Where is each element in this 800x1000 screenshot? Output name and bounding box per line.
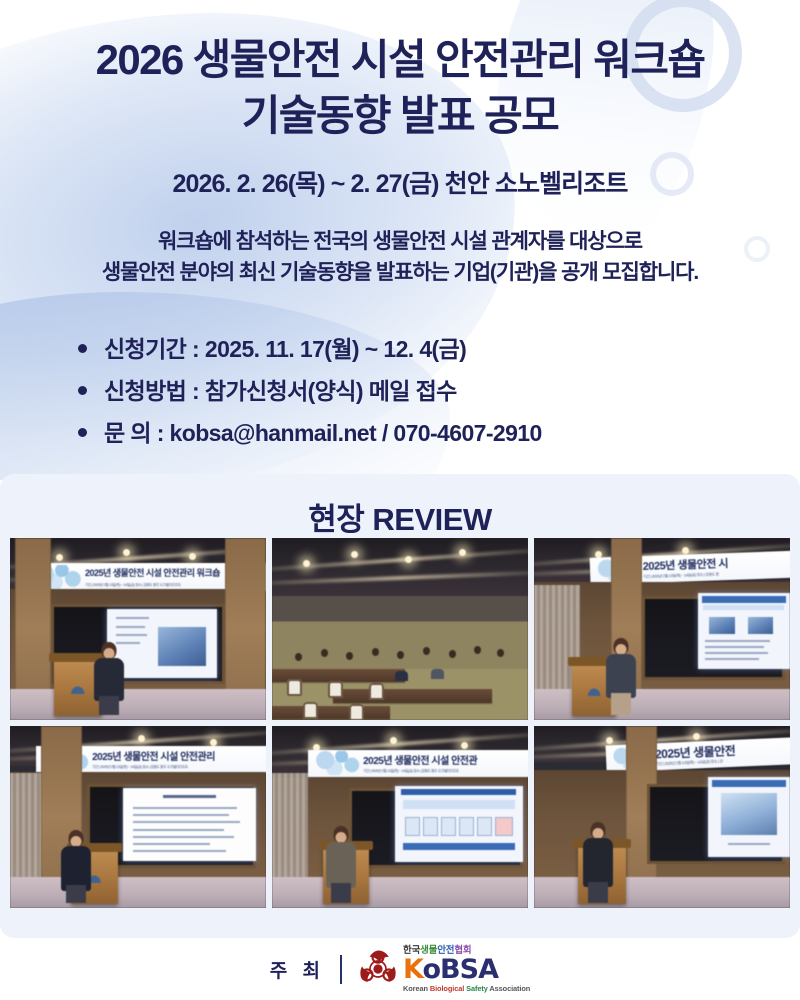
biohazard-icon [357, 948, 399, 990]
presentation-slide [708, 777, 790, 857]
slide-line [133, 807, 237, 809]
review-photo-grid: 2025년 생물안전 시설 안전관리 워크숍 기간 | 2025년 2월 13일… [10, 538, 790, 908]
presenter-body [326, 842, 356, 888]
bullet-text: 신청기간 : 2025. 11. 17(월) ~ 12. 4(금) [104, 330, 466, 364]
banner-title: 2025년 생물안전 시설 안전관 [363, 752, 477, 767]
logo-letter-k: K [403, 954, 422, 985]
audience-chair [349, 704, 364, 720]
downlight-icon [123, 549, 130, 556]
attendee-head [321, 649, 328, 657]
audience-chair [369, 683, 384, 700]
slide-table-cell [459, 817, 474, 837]
stage-floor [10, 877, 266, 908]
downlight-icon [303, 560, 310, 567]
logo-letter-s: S [460, 954, 478, 985]
bullet-text: 문 의 : kobsa@hanmail.net / 070-4607-2910 [104, 414, 542, 448]
review-photo-6[interactable]: 2025년 생물안전 기간 | 2025년 2월 13일(목) ~ 14일(금)… [534, 726, 790, 908]
footer-host-bar: 주 최 [0, 938, 800, 1000]
downlight-icon [390, 737, 397, 744]
review-photo-2[interactable] [272, 538, 528, 720]
stage-floor [10, 689, 266, 720]
presentation-slide [123, 788, 256, 861]
list-item: 신청방법 : 참가신청서(양식) 메일 접수 [0, 372, 800, 406]
presenter-figure [61, 830, 91, 903]
curtain [10, 773, 41, 882]
logo-en-part-2: Biological [430, 984, 466, 993]
slide-line [133, 814, 229, 816]
conference-scene: 2025년 생물안전 시설 안전관리 기간 | 2025년 2월 13일(목) … [10, 726, 266, 908]
slide-line [133, 850, 226, 852]
bullet-dot-icon [78, 428, 87, 437]
attendee-torso [395, 671, 408, 681]
review-photo-5[interactable]: 2025년 생물안전 시설 안전관 기간 | 2025년 2월 13일(목) ~… [272, 726, 528, 908]
attendee-torso [431, 669, 444, 679]
audience-rows [272, 618, 528, 720]
banner-subtitle: 기간 | 2025년 2월 13일(목) ~ 14일(금) 장소 | 강원도 원 [643, 573, 719, 581]
slide-line [116, 617, 149, 619]
downlight-icon [189, 553, 196, 560]
attendee-head [397, 651, 404, 659]
presenter-figure [326, 826, 356, 902]
review-photo-4[interactable]: 2025년 생물안전 시설 안전관리 기간 | 2025년 2월 13일(목) … [10, 726, 266, 908]
lead-line-2: 생물안전 분야의 최신 기술동향을 발표하는 기업(기관)을 공개 모집합니다. [0, 257, 800, 289]
presenter-legs [611, 693, 631, 714]
bullet-text: 신청방법 : 참가신청서(양식) 메일 접수 [104, 372, 457, 406]
audience-table [333, 689, 492, 702]
downlight-icon [459, 549, 466, 556]
logo-english-name: Korean Biological Safety Association [403, 985, 530, 992]
presenter-legs [331, 883, 351, 903]
presenter-legs [588, 882, 608, 903]
kobsa-logo[interactable]: 한국생물안전협회 KoBSA Korean Biological Safety … [357, 946, 530, 993]
downlight-icon [693, 733, 700, 740]
attendee-head [295, 653, 302, 661]
conference-scene: 2025년 생물안전 시설 안전관리 워크숍 기간 | 2025년 2월 13일… [10, 538, 266, 720]
headline-block: 2026 생물안전 시설 안전관리 워크숍 기술동향 발표 공모 2026. 2… [0, 0, 800, 289]
slide-line [705, 640, 770, 642]
presenter-figure [94, 642, 124, 715]
logo-letter-b: B [440, 954, 460, 985]
host-label: 주 최 [270, 956, 325, 983]
list-item: 신청기간 : 2025. 11. 17(월) ~ 12. 4(금) [0, 330, 800, 364]
review-photo-3[interactable]: 2025년 생물안전 시 기간 | 2025년 2월 13일(목) ~ 14일(… [534, 538, 790, 720]
slide-line [133, 836, 234, 838]
stage-banner: 2025년 생물안전 시설 안전관 기간 | 2025년 2월 13일(목) ~… [308, 750, 528, 777]
logo-text-block: 한국생물안전협회 KoBSA Korean Biological Safety … [403, 946, 530, 993]
banner-subtitle: 기간 | 2025년 2월 13일(목) ~ 14일(금) 장소 | 강원도 원… [92, 765, 188, 770]
slide-header-band [702, 596, 787, 603]
downlight-icon [210, 739, 217, 746]
presentation-slide [395, 786, 523, 862]
slide-line [705, 658, 758, 660]
attendee-head [372, 648, 379, 656]
slide-line [728, 843, 771, 845]
slide-band [403, 800, 516, 809]
podium-logo-icon [587, 687, 602, 696]
poster-title-line-1: 2026 생물안전 시설 안전관리 워크숍 [0, 33, 800, 87]
attendee-head [346, 652, 353, 660]
banner-subtitle: 기간 | 2025년 2월 13일(목) ~ 14일(금) 장소 | 강원도 원… [85, 583, 181, 588]
slide-table-cell [441, 817, 456, 837]
slide-line [133, 821, 239, 823]
podium-logo-icon [70, 685, 87, 694]
logo-letter-a: A [478, 954, 498, 985]
slide-table-cell [477, 817, 492, 837]
slide-header-band [712, 780, 786, 786]
slide-table-cell [423, 817, 438, 837]
review-photo-1[interactable]: 2025년 생물안전 시설 안전관리 워크숍 기간 | 2025년 2월 13일… [10, 538, 266, 720]
banner-title: 2025년 생물안전 시설 안전관리 [92, 748, 215, 763]
logo-wordmark: KoBSA [403, 956, 530, 983]
presenter-body [606, 654, 636, 698]
lead-paragraph: 워크숍에 참석하는 전국의 생물안전 시설 관계자를 대상으로 생물안전 분야의… [0, 226, 800, 290]
conference-scene: 2025년 생물안전 시 기간 | 2025년 2월 13일(목) ~ 14일(… [534, 538, 790, 720]
audience-chair [287, 679, 302, 696]
presenter-legs [66, 885, 86, 902]
curtain [272, 773, 308, 882]
bullet-dot-icon [78, 386, 87, 395]
audience-table [272, 706, 390, 719]
slide-diagram-left [709, 617, 735, 634]
logo-letter-o: o [422, 954, 440, 985]
attendee-head [423, 647, 430, 655]
banner-subtitle: 기간 | 2025년 2월 13일(목) ~ 14일(금) 장소 | 강원도 원… [363, 769, 459, 774]
presenter-figure [606, 638, 636, 714]
slide-equipment-image [158, 627, 206, 666]
footer-divider [340, 955, 342, 984]
presenter-legs [99, 696, 119, 715]
presenter-figure [583, 822, 613, 902]
audience-chair [303, 702, 318, 719]
logo-en-part-3: Safety [466, 984, 489, 993]
review-heading: 현장 REVIEW [0, 474, 800, 539]
slide-line [116, 634, 147, 636]
poster-title-line-2: 기술동향 발표 공모 [0, 89, 800, 143]
attendee-head [449, 650, 456, 658]
downlight-icon [606, 737, 613, 744]
bullet-dot-icon [78, 344, 87, 353]
slide-title-line [163, 795, 216, 798]
slide-footer-band [403, 843, 516, 851]
logo-en-part-4: Association [489, 984, 530, 993]
presentation-slide [698, 593, 790, 669]
presenter-body [583, 838, 613, 886]
slide-diagram-right [748, 617, 774, 634]
audience-chair [328, 681, 343, 698]
ceiling [272, 538, 528, 596]
banner-decoration [312, 751, 363, 775]
banner-title: 2025년 생물안전 시설 안전관리 워크숍 [85, 566, 220, 579]
slide-band [703, 605, 784, 610]
slide-header-band [401, 789, 516, 795]
audience-scene [272, 538, 528, 720]
conference-scene: 2025년 생물안전 기간 | 2025년 2월 13일(목) ~ 14일(금)… [534, 726, 790, 908]
stage-floor [272, 877, 528, 908]
poster-root: 2026 생물안전 시설 안전관리 워크숍 기술동향 발표 공모 2026. 2… [0, 0, 800, 1000]
attendee-head [497, 649, 504, 657]
review-panel: 현장 REVIEW 2025년 생물안전 시설 안전관리 워크숍 기간 | 20… [0, 474, 800, 938]
conference-scene: 2025년 생물안전 시설 안전관 기간 | 2025년 2월 13일(목) ~… [272, 726, 528, 908]
slide-line [116, 626, 145, 628]
slide-line [705, 652, 768, 654]
slide-table-cell-highlight [495, 817, 513, 837]
list-item: 문 의 : kobsa@hanmail.net / 070-4607-2910 [0, 414, 800, 448]
slide-line [133, 829, 224, 831]
info-bullet-list: 신청기간 : 2025. 11. 17(월) ~ 12. 4(금) 신청방법 :… [0, 330, 800, 456]
stage-floor [534, 877, 790, 908]
slide-line [705, 646, 764, 648]
attendee-head [474, 646, 481, 654]
lead-line-1: 워크숍에 참석하는 전국의 생물안전 시설 관계자를 대상으로 [0, 226, 800, 258]
slide-line [133, 843, 210, 845]
slide-table-cell [405, 817, 420, 837]
logo-en-part-1: Korean [403, 984, 430, 993]
slide-equipment-image [721, 793, 777, 835]
date-venue-text: 2026. 2. 26(목) ~ 2. 27(금) 천안 소노벨리조트 [0, 164, 800, 200]
